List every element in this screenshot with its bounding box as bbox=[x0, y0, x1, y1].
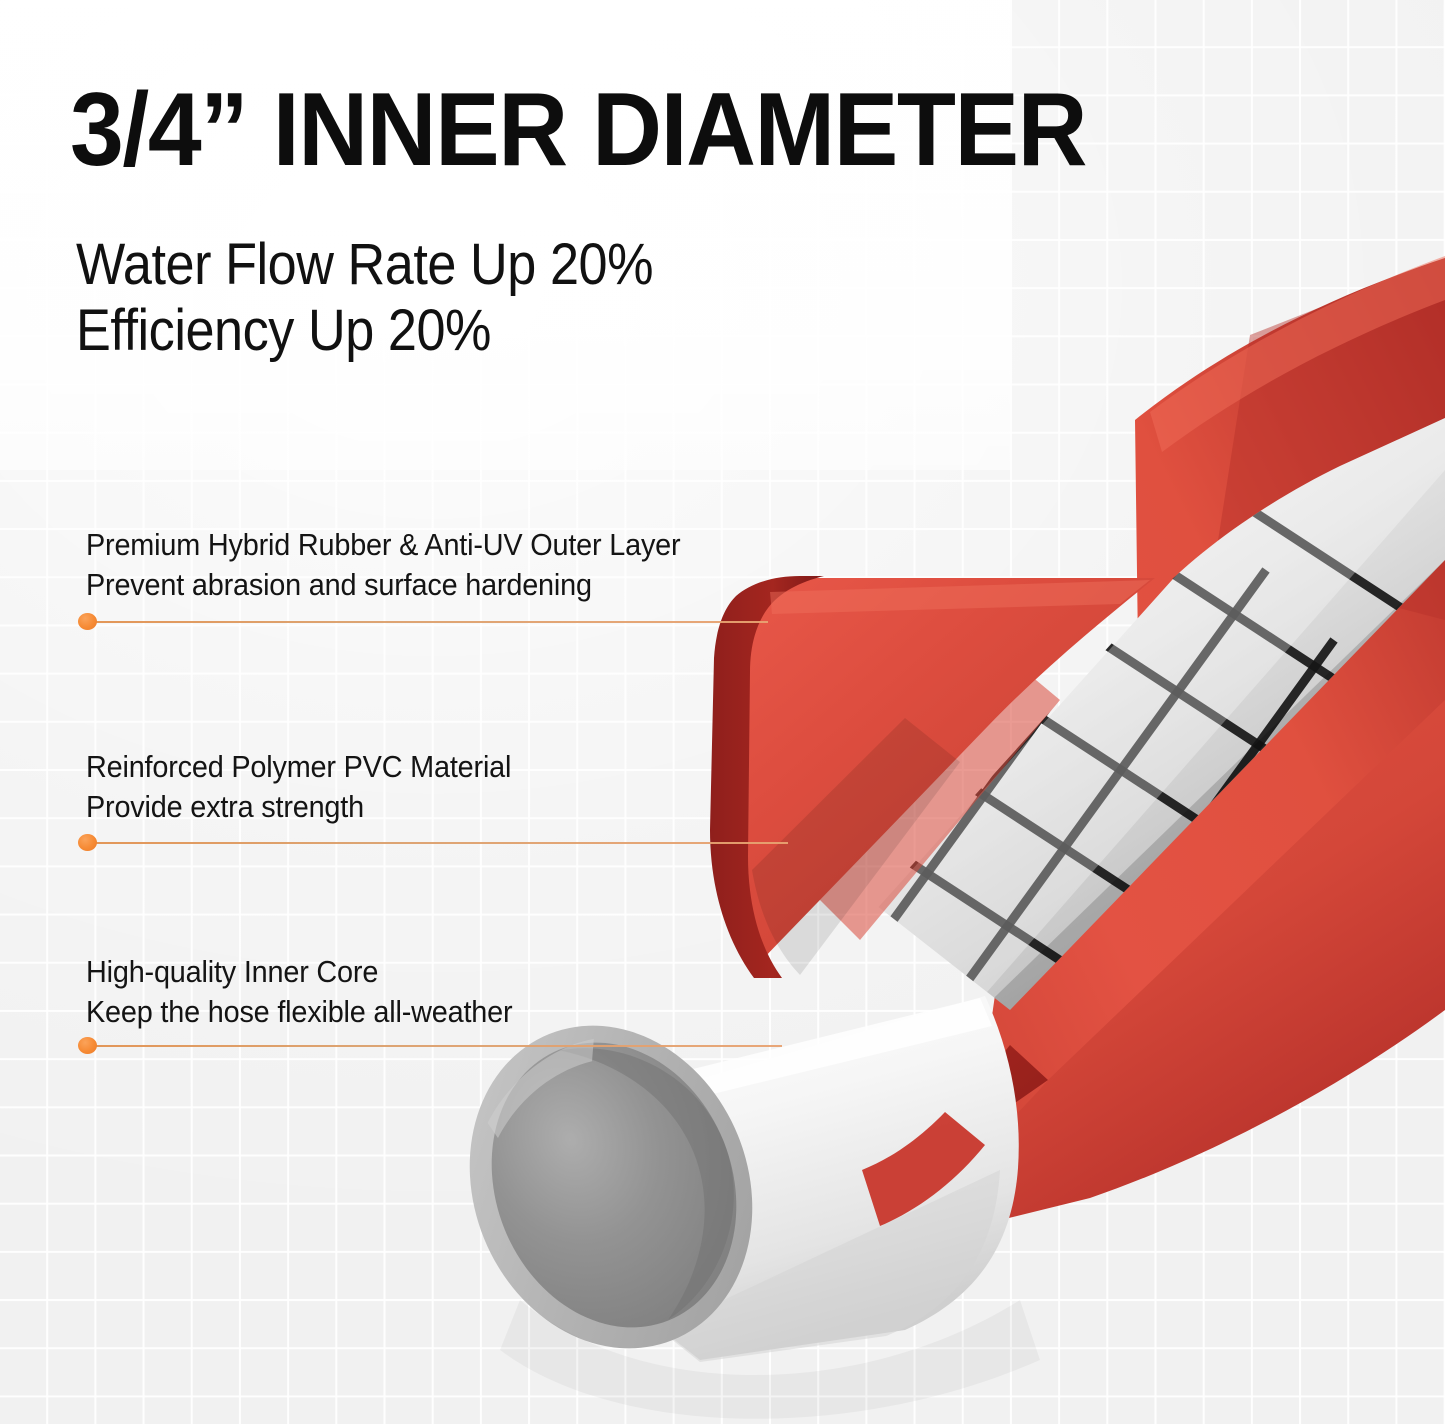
subtitle-line-2: Efficiency Up 20% bbox=[76, 298, 653, 364]
product-infographic: 3/4” INNER DIAMETER Water Flow Rate Up 2… bbox=[0, 0, 1445, 1424]
leader-dot-pvc-layer bbox=[78, 834, 97, 851]
hose-cutaway-illustration bbox=[0, 0, 1445, 1424]
callout-pvc-layer-desc: Provide extra strength bbox=[86, 787, 511, 827]
callout-outer-layer-desc: Prevent abrasion and surface hardening bbox=[86, 565, 680, 605]
page-title: 3/4” INNER DIAMETER bbox=[70, 78, 1086, 182]
callout-pvc-layer-text: Reinforced Polymer PVC Material Provide … bbox=[86, 747, 511, 826]
callout-outer-layer-text: Premium Hybrid Rubber & Anti-UV Outer La… bbox=[86, 525, 680, 604]
callout-outer-layer-title: Premium Hybrid Rubber & Anti-UV Outer La… bbox=[86, 527, 680, 562]
page-subtitle: Water Flow Rate Up 20% Efficiency Up 20% bbox=[76, 232, 653, 364]
leader-line-inner-core bbox=[88, 1045, 782, 1047]
leader-line-pvc-layer bbox=[88, 842, 788, 844]
leader-line-outer-layer bbox=[88, 621, 768, 623]
callout-inner-core-title: High-quality Inner Core bbox=[86, 954, 378, 989]
leader-dot-outer-layer bbox=[78, 613, 97, 630]
leader-dot-inner-core bbox=[78, 1037, 97, 1054]
subtitle-line-1: Water Flow Rate Up 20% bbox=[76, 232, 653, 298]
callout-inner-core-desc: Keep the hose flexible all-weather bbox=[86, 992, 512, 1032]
callout-inner-core-text: High-quality Inner Core Keep the hose fl… bbox=[86, 952, 512, 1031]
callout-pvc-layer-title: Reinforced Polymer PVC Material bbox=[86, 749, 511, 784]
